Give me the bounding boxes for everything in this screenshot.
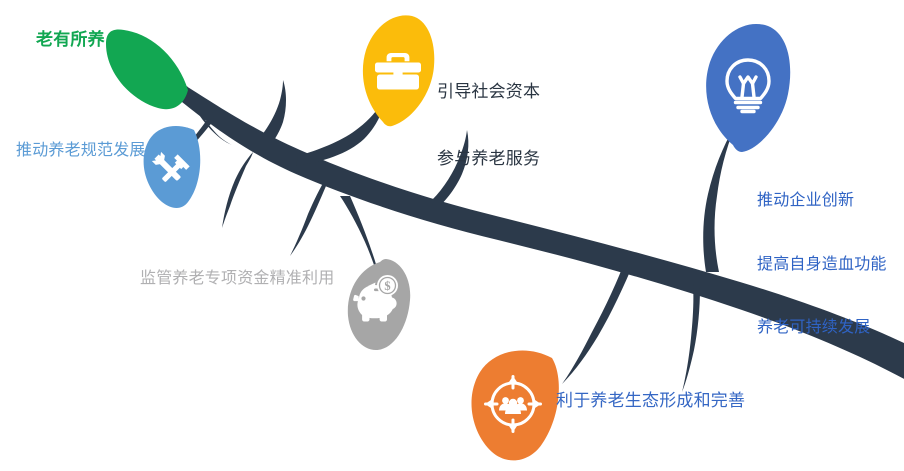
label-gray-leaf: 监管养老专项资金精准利用 bbox=[140, 268, 334, 289]
label-royal-blue-leaf: 推动企业创新 提高自身造血功能 养老可持续发展 bbox=[757, 148, 887, 380]
branch-stem-orange bbox=[562, 258, 634, 384]
label-royal-line-1: 推动企业创新 bbox=[757, 190, 887, 211]
royal-blue-leaf-shape[interactable] bbox=[706, 24, 790, 152]
infographic-canvas: $ bbox=[0, 0, 904, 471]
green-leaf[interactable] bbox=[106, 30, 188, 110]
branch-stem-royal bbox=[703, 124, 736, 272]
label-orange-leaf: 利于养老生态形成和完善 bbox=[556, 390, 745, 412]
light-blue-leaf-shape[interactable] bbox=[144, 126, 201, 208]
branch-spike-right-down bbox=[682, 284, 700, 392]
label-amber-line-1: 引导社会资本 bbox=[437, 81, 540, 103]
svg-text:$: $ bbox=[384, 279, 390, 293]
branch-spike-gray-down bbox=[290, 178, 326, 256]
green-leaf-shape[interactable] bbox=[106, 30, 188, 110]
label-amber-line-2: 参与养老服务 bbox=[437, 148, 540, 170]
light-blue-leaf[interactable] bbox=[144, 126, 201, 208]
royal-blue-leaf[interactable] bbox=[706, 24, 790, 152]
label-royal-line-3: 养老可持续发展 bbox=[757, 317, 887, 338]
label-light-blue-leaf: 推动养老规范发展 bbox=[16, 140, 146, 161]
label-amber-leaf: 引导社会资本 参与养老服务 bbox=[437, 36, 540, 216]
branch-spike-left-down bbox=[222, 152, 253, 228]
label-green-leaf: 老有所养 bbox=[36, 29, 105, 51]
label-royal-line-2: 提高自身造血功能 bbox=[757, 254, 887, 275]
